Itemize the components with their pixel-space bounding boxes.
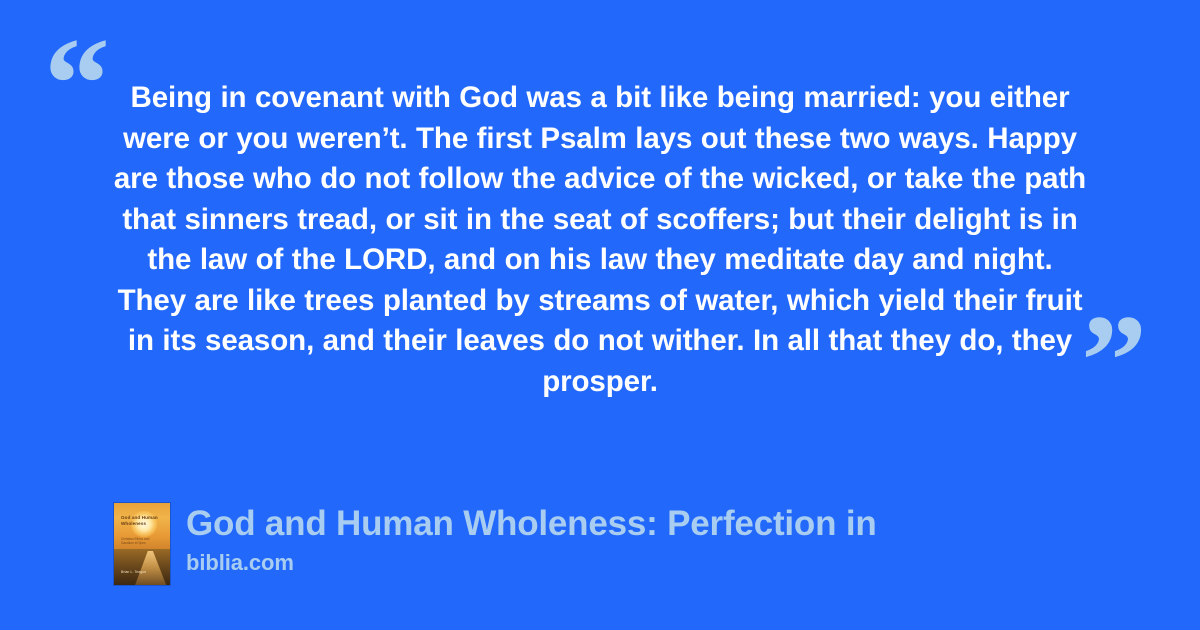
- cover-author-text: Brian L. Teague: [121, 570, 146, 574]
- source-title[interactable]: God and Human Wholeness: Perfection in: [186, 503, 877, 545]
- book-cover-thumbnail[interactable]: God and Human Wholeness Christian Ethics…: [114, 503, 170, 585]
- quote-text: Being in covenant with God was a bit lik…: [112, 78, 1088, 402]
- open-quote-icon: “: [44, 18, 110, 150]
- quote-card: “ Being in covenant with God was a bit l…: [0, 0, 1200, 630]
- close-quote-icon: ”: [1081, 295, 1147, 427]
- source-site[interactable]: biblia.com: [186, 550, 877, 576]
- attribution-text-group: God and Human Wholeness: Perfection in b…: [186, 503, 877, 576]
- cover-title-text: God and Human Wholeness: [121, 515, 160, 527]
- cover-subtitle-text: Christian Ethics and Gaudium et Spes: [121, 537, 158, 546]
- attribution-footer[interactable]: God and Human Wholeness Christian Ethics…: [114, 503, 877, 585]
